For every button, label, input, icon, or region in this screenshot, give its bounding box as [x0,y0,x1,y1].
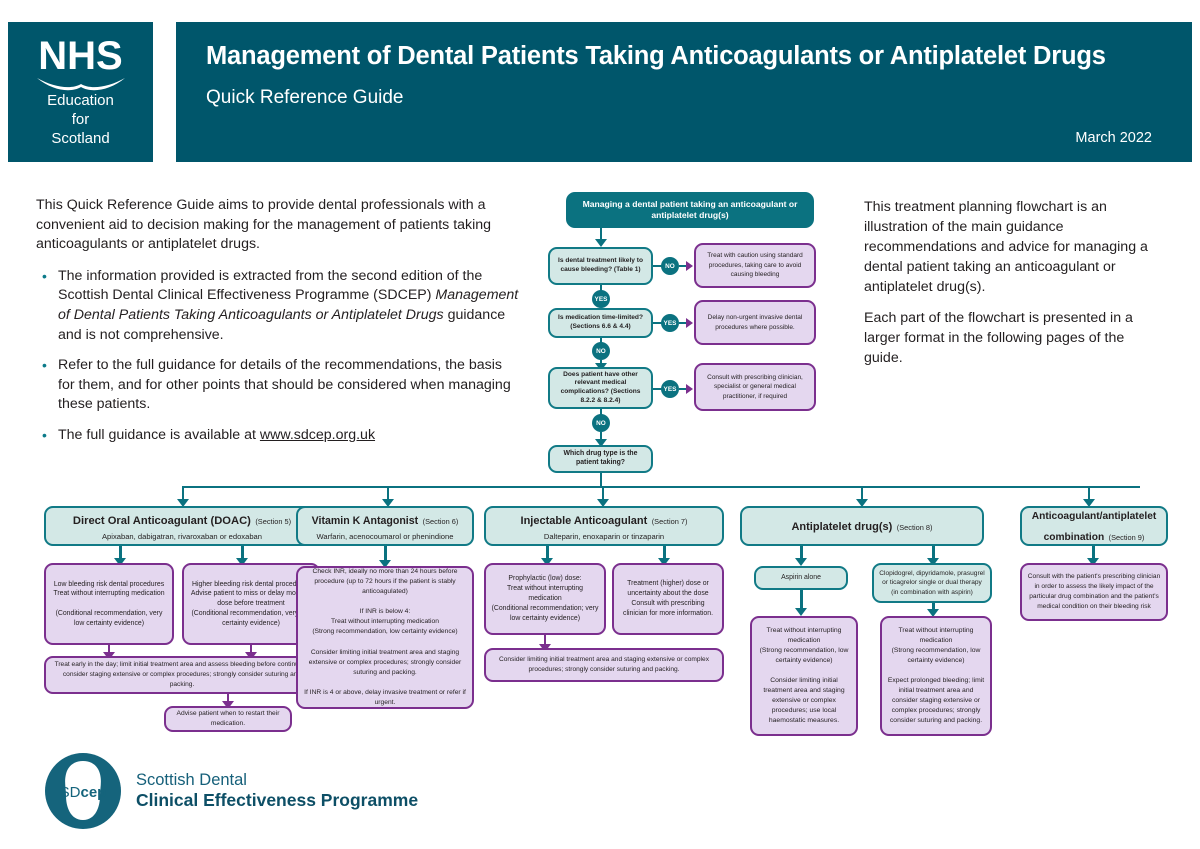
flow-outcome-delay-non-urgent: Delay non-urgent invasive dental procedu… [694,300,816,345]
flow-outcome-consult-prescriber: Consult with prescribing clinician, spec… [694,363,816,411]
arrow-right-icon [686,261,693,271]
column-title: Antiplatelet drug(s) [791,521,892,533]
connector-bus-col5 [1088,486,1090,500]
combination-advice-box: Consult with the patient's prescribing c… [1020,563,1168,621]
sdcep-footer-logo: SDcep Scottish Dental Clinical Effective… [44,752,418,830]
svg-text:SDcep: SDcep [60,784,107,801]
column-drug-list: Warfarin, acenocoumarol or phenindione [317,532,454,542]
column-section-ref: (Section 7) [652,517,688,526]
arrow-right-icon [686,384,693,394]
sdcep-wordmark: Scottish Dental Clinical Effectiveness P… [136,771,418,810]
sdcep-logo-icon: SDcep [44,752,122,830]
column-title: Injectable Anticoagulant [521,515,648,527]
column-section-ref: (Section 9) [1109,533,1145,542]
column-header-doac-title-row: Direct Oral Anticoagulant (DOAC) (Sectio… [73,510,291,531]
badge-yes-q3: YES [661,380,679,398]
flow-question-drug-type: Which drug type is the patient taking? [548,445,653,473]
column-header-injectable-title-row: Injectable Anticoagulant (Section 7) [521,510,688,531]
vitamin-k-advice-box: Check INR, ideally no more than 24 hours… [296,566,474,709]
badge-no-q1: NO [661,257,679,275]
badge-no-q3: NO [592,414,610,432]
antiplatelet-other-drugs-box: Clopidogrel, dipyridamole, prasugrel or … [872,563,992,603]
flow-question-time-limited: Is medication time-limited? (Sections 6.… [548,308,653,338]
arrow-right-icon [686,318,693,328]
doac-restart-medication-box: Advise patient when to restart their med… [164,706,292,732]
connector-bus-col3 [602,486,604,500]
injectable-treatment-dose-box: Treatment (higher) dose or uncertainty a… [612,563,724,635]
column-header-combination-title-row: Anticoagulant/antiplatelet combination (… [1027,505,1161,547]
arrow-down-icon [795,608,807,616]
antiplatelet-other-advice-box: Treat without interrupting medication (S… [880,616,992,736]
injectable-merged-advice-box: Consider limiting initial treatment area… [484,648,724,682]
sdcep-line-2: Clinical Effectiveness Programme [136,790,418,810]
column-header-doac: Direct Oral Anticoagulant (DOAC) (Sectio… [44,506,320,546]
column-section-ref: (Section 6) [423,517,459,526]
column-drug-list: Dalteparin, enoxaparin or tinzaparin [544,532,664,542]
column-title: Vitamin K Antagonist [312,515,419,527]
connector-aspirin-to-advice [800,590,803,610]
injectable-prophylactic-box: Prophylactic (low) dose: Treat without i… [484,563,606,635]
badge-no-q2: NO [592,342,610,360]
connector-bus-col2 [387,486,389,500]
flow-distribution-bus [182,486,1140,488]
antiplatelet-aspirin-alone-box: Aspirin alone [754,566,848,590]
quick-reference-guide-page: NHS Education for Scotland Management of… [0,0,1200,849]
badge-yes-q2: YES [661,314,679,332]
flow-question-bleeding-risk: Is dental treatment likely to cause blee… [548,247,653,285]
arrow-down-icon [795,558,807,566]
connector-bus-col1 [182,486,184,500]
doac-merged-advice-box: Treat early in the day; limit initial tr… [44,656,320,694]
column-header-vitamin-k: Vitamin K Antagonist (Section 6) Warfari… [296,506,474,546]
doac-low-risk-box: Low bleeding risk dental procedures Trea… [44,563,174,645]
arrow-down-icon [595,239,607,247]
column-section-ref: (Section 5) [255,517,291,526]
flow-outcome-treat-with-caution: Treat with caution using standard proced… [694,243,816,288]
column-drug-list: Apixaban, dabigatran, rivaroxaban or edo… [102,532,262,542]
column-header-antiplatelet: Antiplatelet drug(s) (Section 8) [740,506,984,546]
column-header-injectable: Injectable Anticoagulant (Section 7) Dal… [484,506,724,546]
column-section-ref: (Section 8) [897,523,933,532]
column-header-antiplatelet-title-row: Antiplatelet drug(s) (Section 8) [791,516,932,537]
connector-q4-to-bus [600,473,602,487]
column-header-vitk-title-row: Vitamin K Antagonist (Section 6) [312,510,459,531]
flow-question-medical-complications: Does patient have other relevant medical… [548,367,653,409]
flow-start-node: Managing a dental patient taking an anti… [566,192,814,228]
treatment-planning-flowchart: Managing a dental patient taking an anti… [0,0,1200,849]
sdcep-line-1: Scottish Dental [136,771,418,790]
column-title: Direct Oral Anticoagulant (DOAC) [73,515,251,527]
column-header-combination: Anticoagulant/antiplatelet combination (… [1020,506,1168,546]
antiplatelet-aspirin-advice-box: Treat without interrupting medication (S… [750,616,858,736]
badge-yes-q1: YES [592,290,610,308]
connector-bus-col4 [861,486,863,500]
